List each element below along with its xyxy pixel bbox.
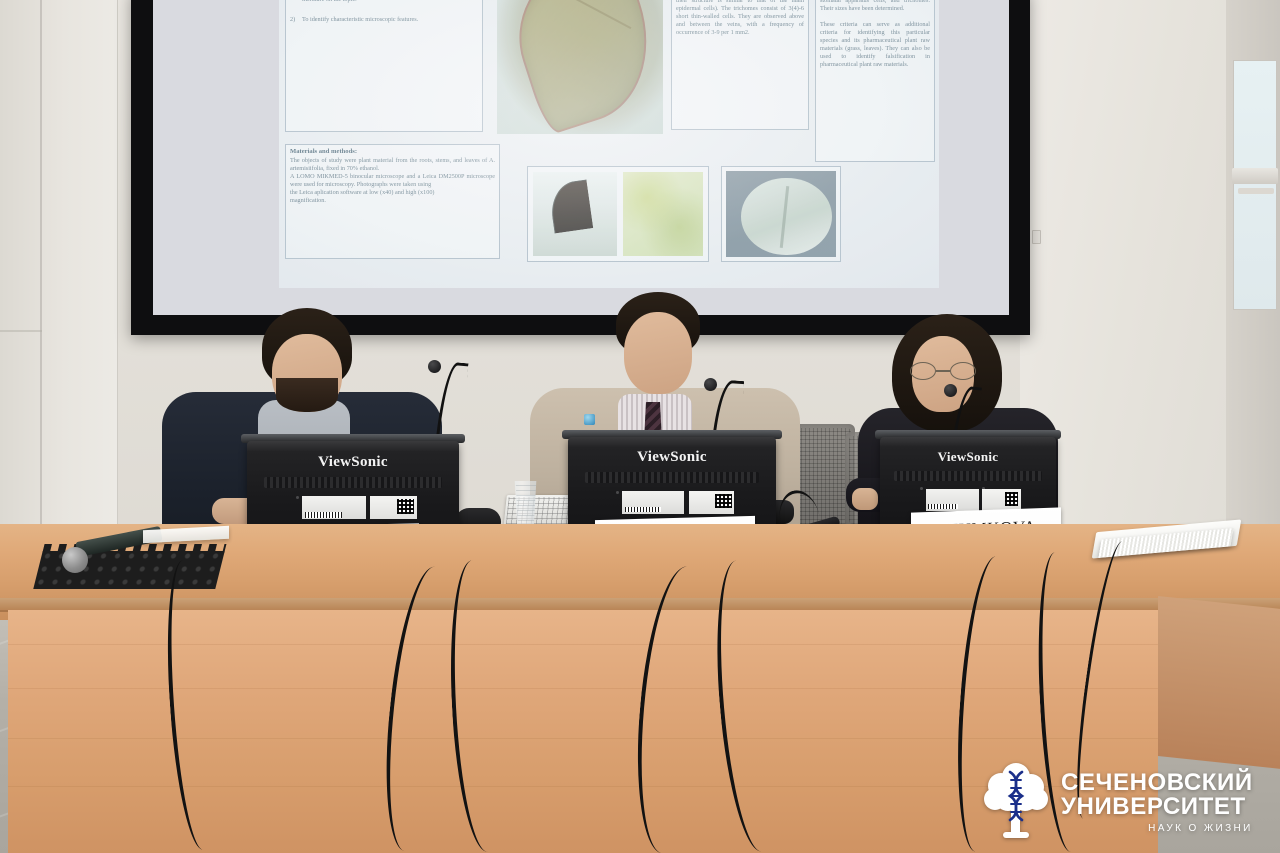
leaf-cross-section-micrograph <box>497 0 663 134</box>
monitor-qr-code <box>715 494 731 508</box>
vein-micrograph-circular-field <box>726 171 836 257</box>
microphone-capsule-2 <box>704 378 717 391</box>
trichome-hair <box>548 180 593 234</box>
goal-2-marker: 2) <box>290 16 295 24</box>
window-pane <box>1233 60 1277 310</box>
handheld-microphone-grille <box>62 547 88 573</box>
microphone-capsule-1 <box>428 360 441 373</box>
monitor-screw <box>616 491 619 494</box>
panel-table-right-return <box>1158 596 1280 769</box>
oak-tree-dna-icon <box>983 762 1049 842</box>
methods-paragraph-3: the Leica aplication software at low (x4… <box>290 189 495 197</box>
leaf-vein-detail <box>780 186 789 248</box>
microphone-capsule-3 <box>944 384 957 397</box>
goal-2-text: To identify characteristic microscopic f… <box>302 16 418 23</box>
shumkova-glasses <box>910 362 976 380</box>
viewsonic-brand-label: ViewSonic <box>247 454 459 471</box>
bokov-beard <box>276 378 338 412</box>
monitor-qr-label <box>689 491 735 514</box>
shumkova-hand <box>852 488 878 510</box>
monitor-spec-label <box>926 489 979 511</box>
monitor-barcode <box>625 507 661 512</box>
terekhov-head <box>624 312 692 394</box>
monitor-spec-label <box>302 496 366 519</box>
logo-line-1: СЕЧЕНОВСКИЙ <box>1061 771 1253 795</box>
methods-heading: Materials and methods: <box>290 148 495 156</box>
leaf-outline <box>499 0 670 136</box>
monitor-qr-label <box>370 496 417 519</box>
monitor-qr-code <box>1005 492 1019 506</box>
conclusions-paragraph-2: These criteria can serve as additional c… <box>820 21 930 69</box>
monitor-screw <box>920 487 923 490</box>
slide-figure-vein-container <box>721 166 841 262</box>
conclusions-paragraph-1: Characteristic diagnostic microscopic fe… <box>820 0 930 13</box>
methods-paragraph-1: The objects of study were plant material… <box>290 157 495 173</box>
logo-line-2: УНИВЕРСИТЕТ <box>1061 795 1253 819</box>
logo-wordmark: СЕЧЕНОВСКИЙ УНИВЕРСИТЕТ НАУК О ЖИЗНИ <box>1061 771 1253 834</box>
picture3-text: Anomocytic type of stomatal apparatus (t… <box>676 0 804 36</box>
wall-socket <box>1032 230 1041 244</box>
monitor-screw <box>296 496 299 499</box>
monitor-spec-label <box>622 491 684 514</box>
slide-box-materials-methods: Materials and methods: The objects of st… <box>285 144 500 259</box>
left-wall-panel <box>0 0 118 560</box>
methods-paragraph-4: magnification. <box>290 197 495 205</box>
trichome-micrograph <box>533 172 617 256</box>
slide-figure-row-container <box>527 166 709 262</box>
slide-box-conclusions: Conclusions Characteristic diagnostic mi… <box>815 0 935 162</box>
presentation-slide: A. artemisiifolia Goals: 1) To conduct a… <box>279 0 939 288</box>
viewsonic-brand-label: ViewSonic <box>880 449 1056 465</box>
monitor-qr-label <box>982 489 1021 511</box>
monitor-qr-code <box>397 499 414 513</box>
monitor-vents <box>264 477 442 488</box>
methods-paragraph-2: A LOMO MIKMED-5 binocular microscope and… <box>290 173 495 189</box>
goal-1-text: To conduct an informational and analytic… <box>302 0 478 3</box>
monitor-barcode <box>928 504 959 509</box>
wall-seam <box>40 0 42 560</box>
logo-tagline: НАУК О ЖИЗНИ <box>1061 824 1253 834</box>
monitor-vents <box>585 472 760 482</box>
door-closer <box>1232 168 1278 184</box>
terekhov-lapel-pin <box>584 414 595 425</box>
door-closer-arm <box>1238 188 1274 194</box>
monitor-barcode <box>305 512 342 517</box>
epidermis-micrograph <box>623 172 703 256</box>
monitor-vents <box>894 471 1042 481</box>
viewsonic-brand-label: ViewSonic <box>568 449 776 466</box>
conference-panel-photo: A. artemisiifolia Goals: 1) To conduct a… <box>0 0 1280 853</box>
slide-box-picture3: stem base are wide, pyramidal, multicell… <box>671 0 809 130</box>
sechenov-university-logo: СЕЧЕНОВСКИЙ УНИВЕРСИТЕТ НАУК О ЖИЗНИ <box>983 762 1253 842</box>
slide-box-goals: A. artemisiifolia Goals: 1) To conduct a… <box>285 0 483 132</box>
wall-seam-horizontal <box>0 330 42 332</box>
microscope-field-circle <box>741 178 831 255</box>
